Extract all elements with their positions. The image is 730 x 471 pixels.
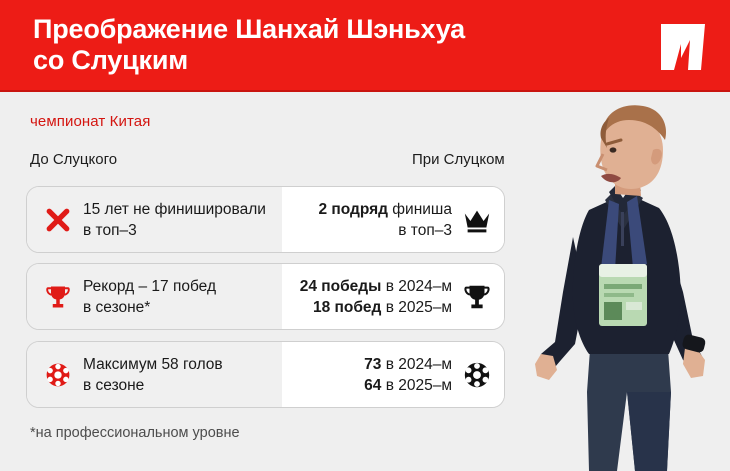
column-label-before: До Слуцкого xyxy=(30,151,117,168)
row-right-line2: в топ–3 xyxy=(292,220,452,241)
row-right-bold1: 24 победы xyxy=(300,278,382,295)
row-right-line2: 64 в 2025–м xyxy=(292,375,452,396)
row-right-line1: 24 победы в 2024–м xyxy=(292,276,452,297)
row-right-text: 73 в 2024–м 64 в 2025–м xyxy=(292,354,452,396)
row-left-line1: Максимум 58 голов xyxy=(83,354,275,375)
row-right-bold2: 64 xyxy=(364,377,381,394)
row-left-text: Рекорд – 17 побед в сезоне* xyxy=(83,276,275,318)
red-cross-icon xyxy=(41,203,75,237)
row-left-line2: в топ–3 xyxy=(83,220,275,241)
black-trophy-icon xyxy=(460,280,494,314)
row-right-rest1: в 2024–м xyxy=(381,278,452,295)
kicker-label: чемпионат Китая xyxy=(30,113,150,130)
row-right-rest1: финиша xyxy=(388,201,452,218)
row-right-text: 2 подряд финиша в топ–3 xyxy=(292,199,452,241)
row-left-line2: в сезоне xyxy=(83,375,275,396)
row-left-cell: 15 лет не финишировали в топ–3 xyxy=(27,187,282,252)
row-left-cell: Максимум 58 голов в сезоне xyxy=(27,342,282,407)
crown-icon xyxy=(460,203,494,237)
championat-logo xyxy=(657,22,709,72)
coach-photo xyxy=(497,92,730,471)
red-soccer-ball-icon xyxy=(41,358,75,392)
column-label-after: При Слуцком xyxy=(412,151,505,168)
row-right-cell: 2 подряд финиша в топ–3 xyxy=(282,187,504,252)
row-right-bold2: 18 побед xyxy=(313,299,381,316)
table-row: Рекорд – 17 побед в сезоне* 24 победы в … xyxy=(26,263,505,330)
row-left-line1: Рекорд – 17 побед xyxy=(83,276,275,297)
footnote: *на профессиональном уровне xyxy=(30,425,240,441)
row-right-line1: 2 подряд финиша xyxy=(292,199,452,220)
header-banner: Преображение Шанхай Шэньхуа со Слуцким xyxy=(0,0,730,92)
row-right-line1: 73 в 2024–м xyxy=(292,354,452,375)
row-right-rest2: в 2025–м xyxy=(381,299,452,316)
row-right-cell: 73 в 2024–м 64 в 2025–м xyxy=(282,342,504,407)
row-right-line2: 18 побед в 2025–м xyxy=(292,297,452,318)
row-right-text: 24 победы в 2024–м 18 побед в 2025–м xyxy=(292,276,452,318)
row-left-line1: 15 лет не финишировали xyxy=(83,199,275,220)
row-left-line2: в сезоне* xyxy=(83,297,275,318)
red-trophy-icon xyxy=(41,280,75,314)
row-left-cell: Рекорд – 17 побед в сезоне* xyxy=(27,264,282,329)
row-right-bold1: 2 подряд xyxy=(318,201,388,218)
row-right-rest2: в топ–3 xyxy=(398,222,452,239)
table-row: Максимум 58 голов в сезоне 73 в 2024–м 6… xyxy=(26,341,505,408)
row-left-text: 15 лет не финишировали в топ–3 xyxy=(83,199,275,241)
row-right-cell: 24 победы в 2024–м 18 побед в 2025–м xyxy=(282,264,504,329)
row-right-rest1: в 2024–м xyxy=(381,356,452,373)
black-soccer-ball-icon xyxy=(460,358,494,392)
row-left-text: Максимум 58 голов в сезоне xyxy=(83,354,275,396)
row-right-bold1: 73 xyxy=(364,356,381,373)
page-title: Преображение Шанхай Шэньхуа со Слуцким xyxy=(33,14,593,76)
row-right-rest2: в 2025–м xyxy=(381,377,452,394)
infographic-canvas: Преображение Шанхай Шэньхуа со Слуцким ч… xyxy=(0,0,730,471)
table-row: 15 лет не финишировали в топ–3 2 подряд … xyxy=(26,186,505,253)
